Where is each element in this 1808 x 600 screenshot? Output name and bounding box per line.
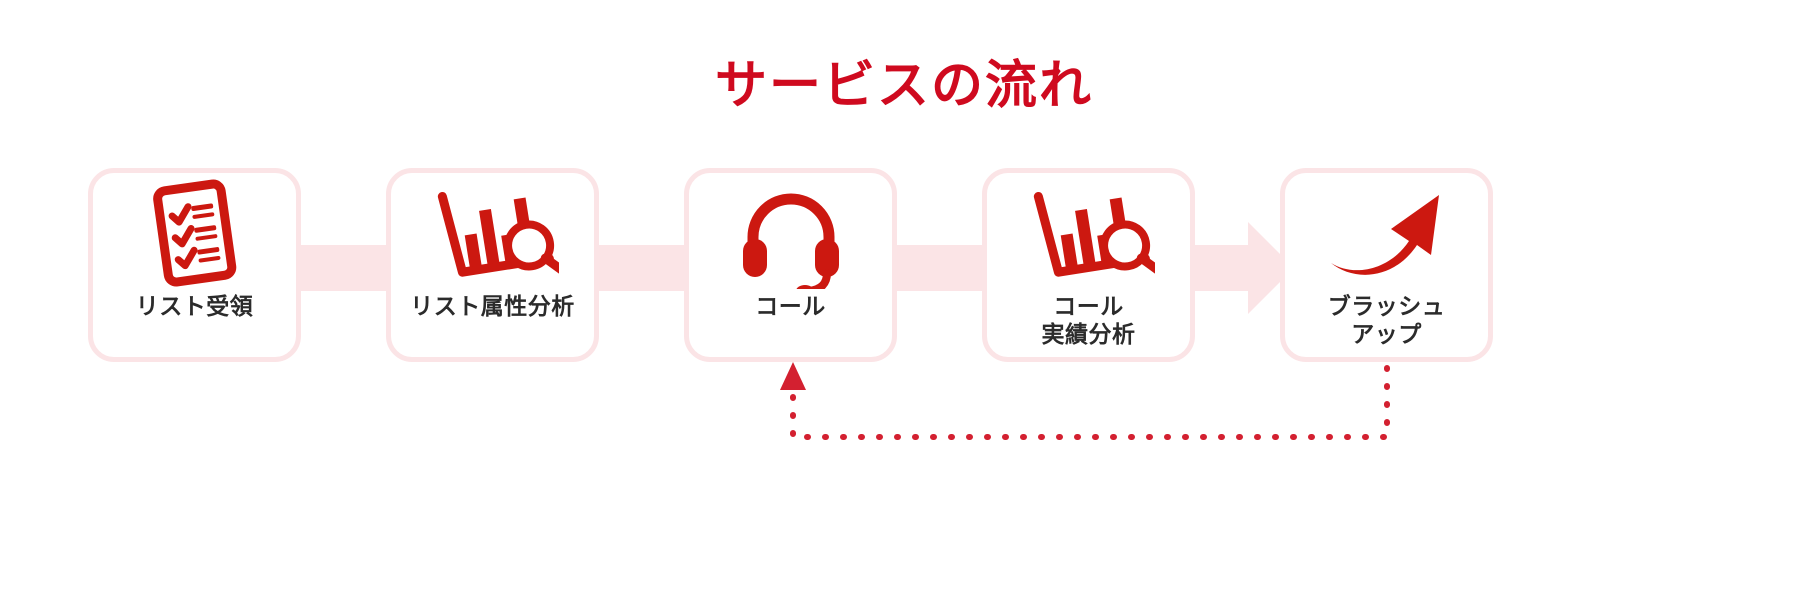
connector-bar-3: [892, 245, 992, 291]
connector-bar-1: [296, 245, 396, 291]
feedback-arrowhead-icon: [780, 362, 806, 390]
clipboard-checklist-icon: [93, 179, 296, 291]
connector-bar-2: [594, 245, 694, 291]
bar-chart-magnifier-icon: [391, 179, 594, 291]
block-arrow-icon: [1186, 222, 1294, 314]
headset-icon: [689, 179, 892, 291]
step-card-list-receipt[interactable]: リスト受領: [88, 168, 301, 362]
step-card-label: リスト属性分析: [410, 293, 575, 321]
step-card-call[interactable]: コール: [684, 168, 897, 362]
bar-chart-magnifier-icon: [987, 179, 1190, 291]
step-card-label: リスト受領: [136, 293, 254, 321]
step-card-label: ブラッシュ アップ: [1328, 293, 1446, 349]
curved-up-arrow-icon: [1285, 179, 1488, 291]
step-card-call-performance-analysis[interactable]: コール 実績分析: [982, 168, 1195, 362]
step-card-list-attribute-analysis[interactable]: リスト属性分析: [386, 168, 599, 362]
service-flow-diagram: サービスの流れ: [0, 0, 1808, 600]
step-card-label: コール 実績分析: [1042, 293, 1136, 349]
step-card-brush-up[interactable]: ブラッシュ アップ: [1280, 168, 1493, 362]
step-card-label: コール: [755, 293, 826, 321]
connector-arrow-4: [1186, 222, 1294, 314]
page-title: サービスの流れ: [0, 60, 1808, 112]
